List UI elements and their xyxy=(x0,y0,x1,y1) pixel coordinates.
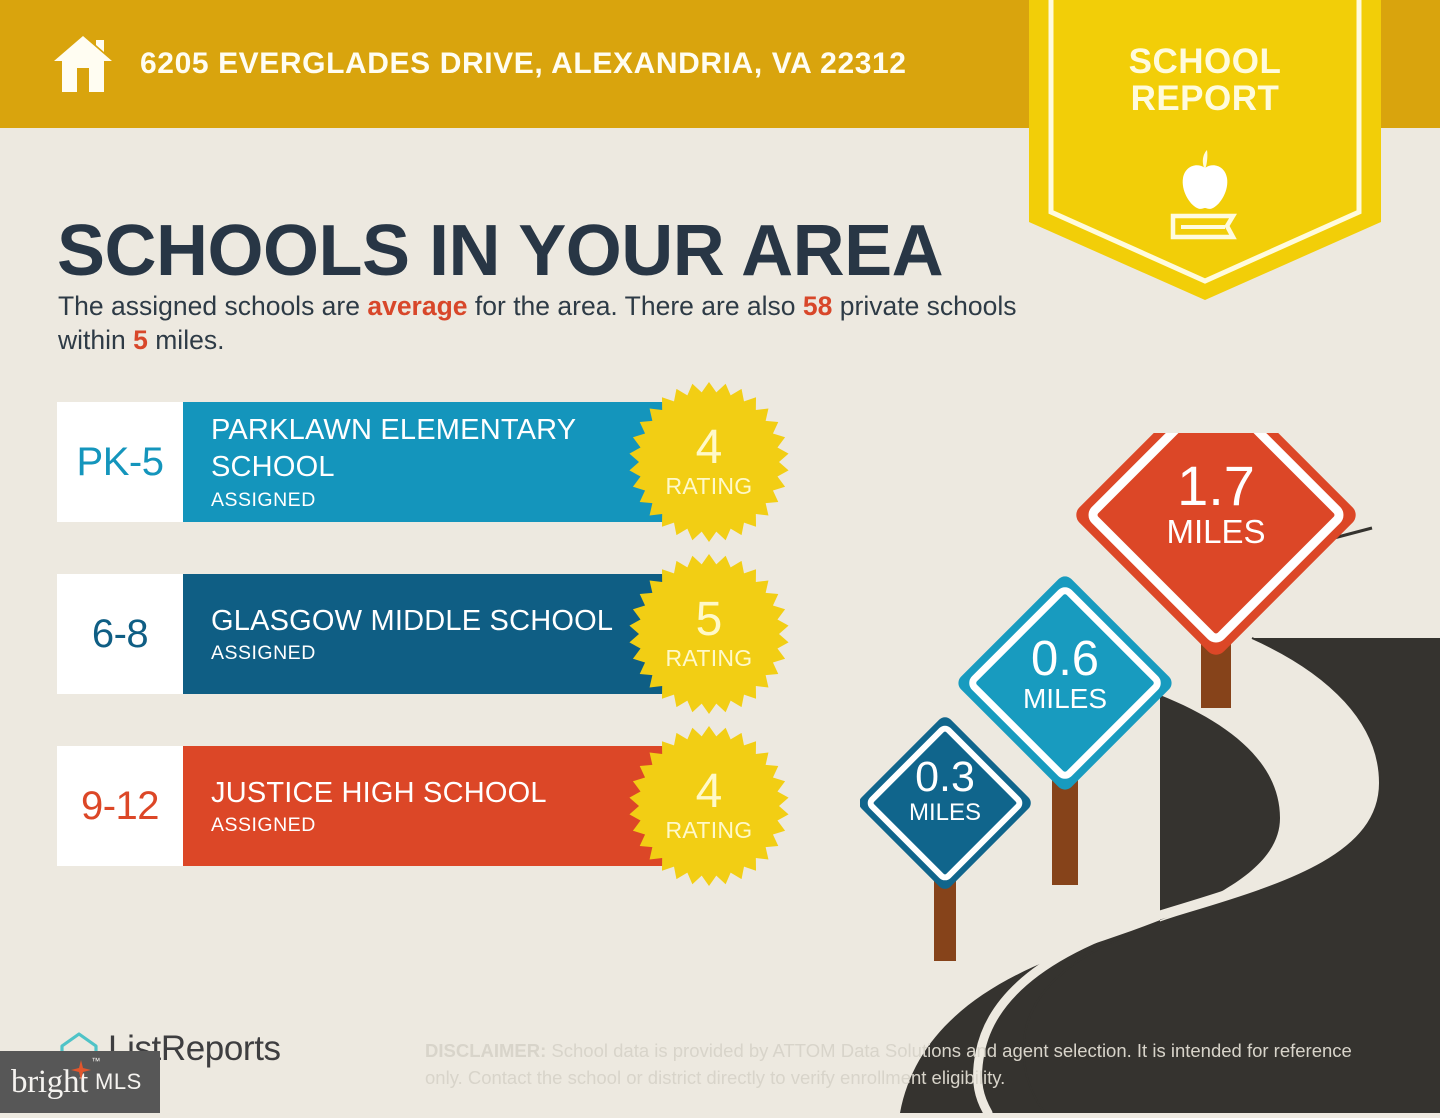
sign-unit-0-6: MILES xyxy=(1023,683,1107,714)
school-info-bar: PARKLAWN ELEMENTARY SCHOOLASSIGNED xyxy=(183,402,663,522)
badge-icons xyxy=(1029,142,1381,252)
mls-text: MLS xyxy=(95,1069,142,1095)
rating-starburst: 4RATING xyxy=(629,382,789,542)
page-subtitle: The assigned schools are average for the… xyxy=(58,289,1018,359)
sign-value-1-7: 1.7 xyxy=(1177,454,1255,517)
home-icon xyxy=(52,34,114,94)
rating-starburst: 4RATING xyxy=(629,726,789,886)
badge-title: SCHOOL REPORT xyxy=(1029,44,1381,118)
subtitle-part1: The assigned schools are xyxy=(58,291,367,321)
school-row[interactable]: PK-5PARKLAWN ELEMENTARY SCHOOLASSIGNED4R… xyxy=(57,402,817,522)
subtitle-highlight-average: average xyxy=(367,291,467,321)
subtitle-highlight-count: 58 xyxy=(803,291,832,321)
trademark-symbol: ™ xyxy=(91,1056,100,1066)
rating-label-group: 4RATING xyxy=(629,382,789,542)
badge-title-line2: REPORT xyxy=(1029,81,1381,118)
distance-sign-0-3: 0.3 MILES xyxy=(860,714,1034,961)
grade-range-label: 6-8 xyxy=(92,612,148,657)
property-address: 6205 EVERGLADES DRIVE, ALEXANDRIA, VA 22… xyxy=(140,47,907,81)
school-name: PARKLAWN ELEMENTARY SCHOOL xyxy=(211,412,663,485)
sign-unit-0-3: MILES xyxy=(909,799,981,826)
school-assigned-label: ASSIGNED xyxy=(211,642,663,665)
school-report-badge: SCHOOL REPORT xyxy=(1029,0,1381,300)
grade-range-label: PK-5 xyxy=(77,440,164,485)
grade-range-box: PK-5 xyxy=(57,402,183,522)
school-row[interactable]: 9-12JUSTICE HIGH SCHOOLASSIGNED4RATING xyxy=(57,746,817,866)
bright-mls-watermark: bright ™ MLS xyxy=(0,1051,160,1113)
rating-starburst: 5RATING xyxy=(629,554,789,714)
sign-value-0-6: 0.6 xyxy=(1031,632,1099,686)
disclaimer-body: School data is provided by ATTOM Data So… xyxy=(425,1040,1352,1087)
school-info-bar: JUSTICE HIGH SCHOOLASSIGNED xyxy=(183,746,663,866)
grade-range-box: 9-12 xyxy=(57,746,183,866)
grade-range-label: 9-12 xyxy=(81,784,159,829)
road-signs-illustration: 0.3 MILES 0.6 MILES 1.7 MILES xyxy=(860,433,1440,1113)
subtitle-part2: for the area. There are also xyxy=(468,291,803,321)
rating-value: 4 xyxy=(696,768,723,816)
bright-wordmark: bright ™ xyxy=(11,1064,88,1101)
sign-unit-1-7: MILES xyxy=(1166,513,1265,550)
subtitle-highlight-radius: 5 xyxy=(133,325,148,355)
header-content: 6205 EVERGLADES DRIVE, ALEXANDRIA, VA 22… xyxy=(52,0,907,128)
rating-word: RATING xyxy=(666,645,753,672)
apple-icon xyxy=(1183,150,1228,209)
rating-word: RATING xyxy=(666,473,753,500)
rating-word: RATING xyxy=(666,817,753,844)
rating-value: 5 xyxy=(696,596,723,644)
school-list: PK-5PARKLAWN ELEMENTARY SCHOOLASSIGNED4R… xyxy=(57,402,817,918)
school-name: JUSTICE HIGH SCHOOL xyxy=(211,775,663,812)
page-title: SCHOOLS IN YOUR AREA xyxy=(57,215,943,287)
school-info-bar: GLASGOW MIDDLE SCHOOLASSIGNED xyxy=(183,574,663,694)
school-assigned-label: ASSIGNED xyxy=(211,489,663,512)
school-row[interactable]: 6-8GLASGOW MIDDLE SCHOOLASSIGNED5RATING xyxy=(57,574,817,694)
rating-label-group: 5RATING xyxy=(629,554,789,714)
book-icon xyxy=(1173,216,1233,237)
disclaimer-label: DISCLAIMER: xyxy=(425,1040,546,1061)
subtitle-part4: miles. xyxy=(148,325,225,355)
grade-range-box: 6-8 xyxy=(57,574,183,694)
star-icon xyxy=(71,1060,91,1080)
school-assigned-label: ASSIGNED xyxy=(211,814,663,837)
sign-value-0-3: 0.3 xyxy=(915,753,975,801)
rating-value: 4 xyxy=(696,424,723,472)
school-name: GLASGOW MIDDLE SCHOOL xyxy=(211,603,663,640)
rating-label-group: 4RATING xyxy=(629,726,789,886)
badge-title-line1: SCHOOL xyxy=(1029,44,1381,81)
disclaimer-text: DISCLAIMER: School data is provided by A… xyxy=(425,1038,1370,1091)
